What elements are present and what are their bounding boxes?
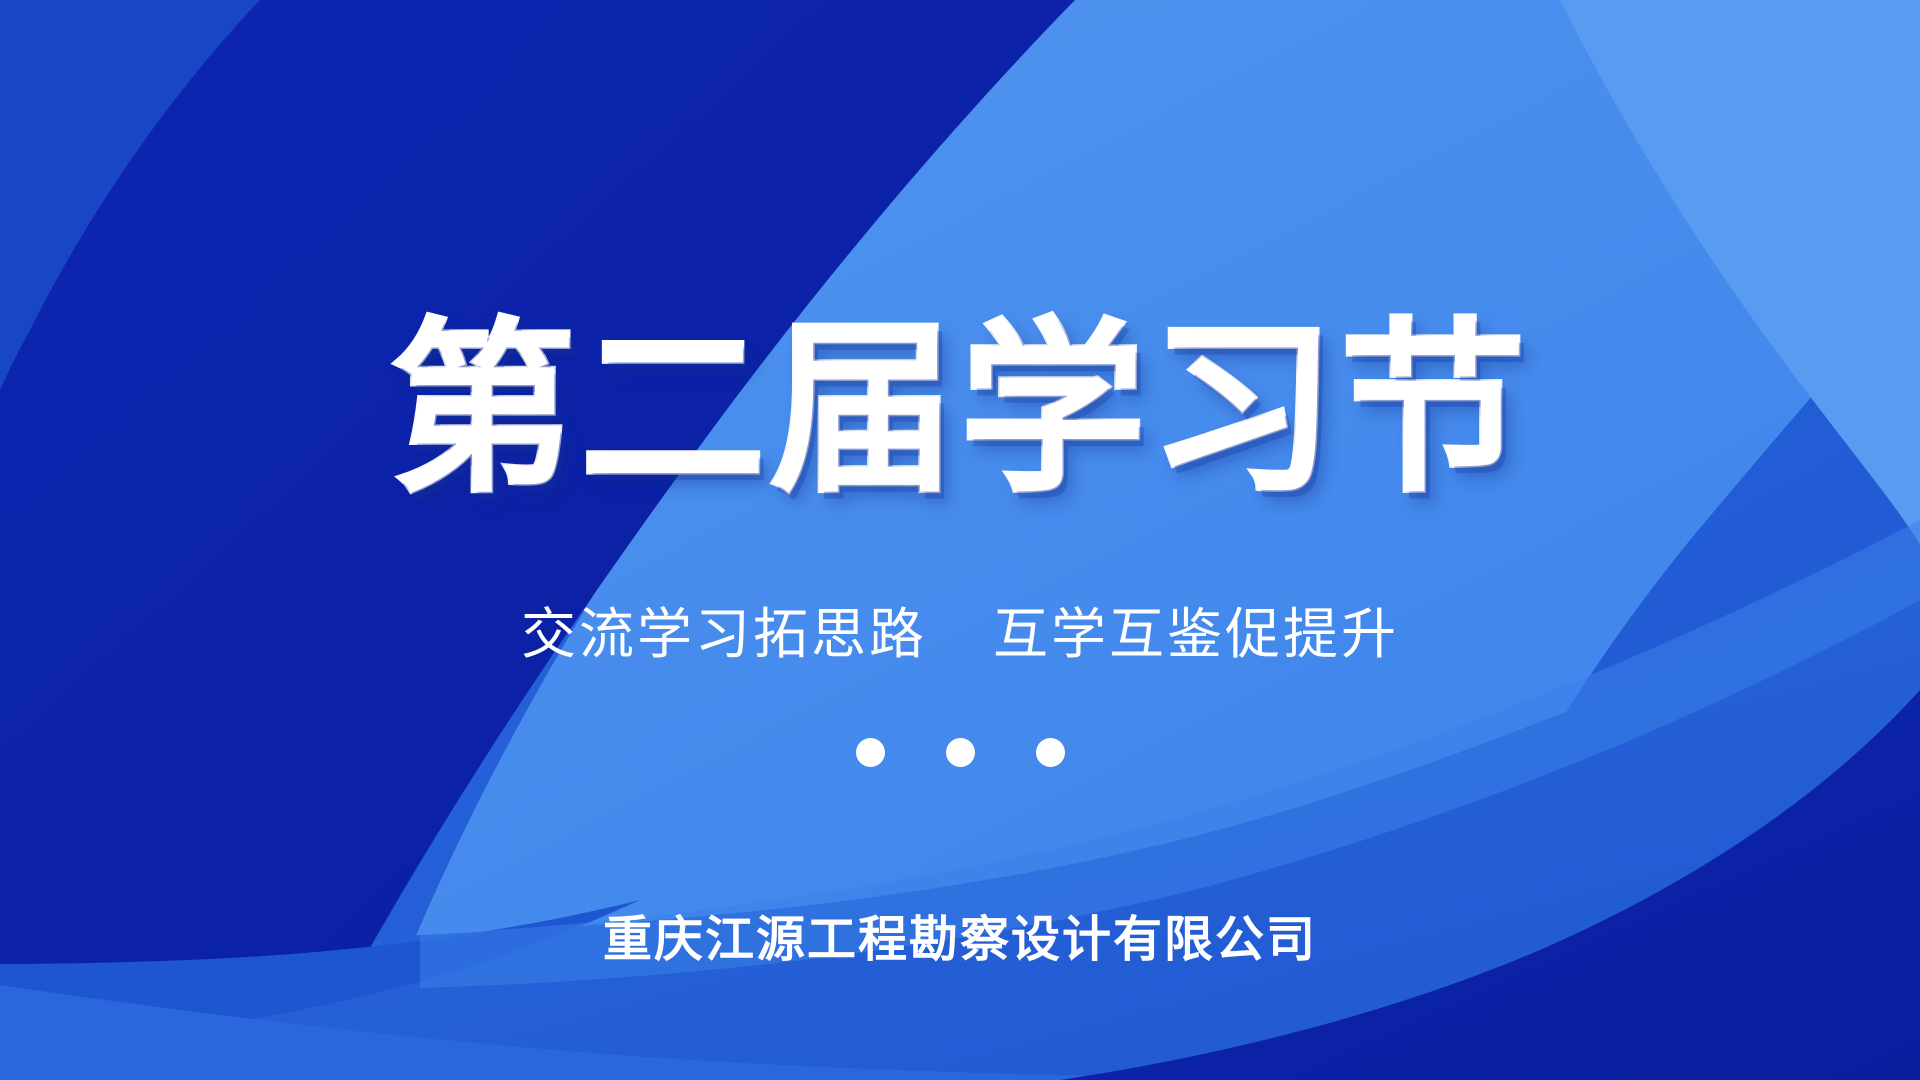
poster-content: 第二届学习节 交流学习拓思路 互学互鉴促提升 重庆江源工程勘察设计有限公司 [0,0,1920,1080]
company-name: 重庆江源工程勘察设计有限公司 [0,916,1920,965]
dot-icon [856,738,885,767]
subtitle-left-phrase: 交流学习拓思路 [521,607,927,662]
dot-icon [946,738,975,767]
poster-canvas: 第二届学习节 交流学习拓思路 互学互鉴促提升 重庆江源工程勘察设计有限公司 [0,0,1920,1080]
subtitle: 交流学习拓思路 互学互鉴促提升 [0,607,1920,662]
subtitle-right-phrase: 互学互鉴促提升 [993,607,1399,662]
dot-separator [0,738,1920,767]
page-title: 第二届学习节 [0,318,1920,504]
dot-icon [1036,738,1065,767]
